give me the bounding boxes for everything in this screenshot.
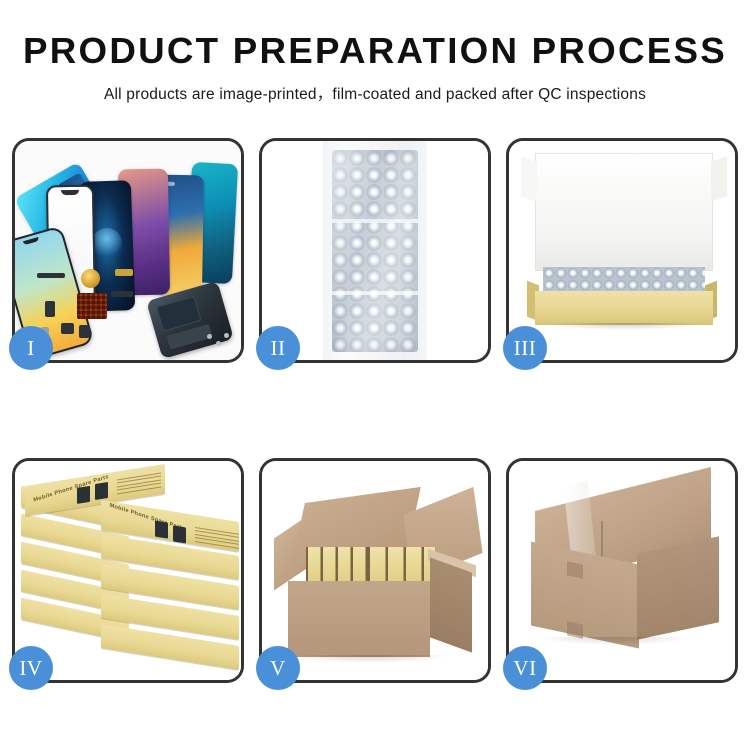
step-2-image <box>262 141 488 360</box>
box-spec-lines-front <box>195 527 239 551</box>
step-panel-6: VI <box>506 458 738 683</box>
step-panel-2: II <box>259 138 491 363</box>
step-panel-1: I <box>12 138 244 363</box>
page-header: PRODUCT PREPARATION PROCESS All products… <box>0 0 750 104</box>
box-lid-white <box>535 153 713 271</box>
step-panel-3: III <box>506 138 738 363</box>
mainboard-icon <box>156 296 202 332</box>
box-screen-image-front-1 <box>155 521 168 539</box>
flex-cable-part-icon <box>37 273 65 278</box>
bubble-wrapped-contents <box>543 267 705 293</box>
step-badge-1: I <box>9 326 53 370</box>
process-steps-grid: I II III <box>12 138 738 683</box>
jellyfish-wallpaper <box>91 228 122 259</box>
button-flex-part-icon <box>115 269 133 276</box>
sealed-carton-shadow <box>539 637 689 645</box>
step-6-image <box>509 461 735 680</box>
box-shadow <box>543 323 705 330</box>
page-title: PRODUCT PREPARATION PROCESS <box>0 32 750 70</box>
step-badge-3: III <box>503 326 547 370</box>
bubble-wrap-seam-top <box>332 219 418 223</box>
step-5-image <box>262 461 488 680</box>
copper-mesh-part-icon <box>77 293 107 319</box>
box-screen-image-front-2 <box>173 525 186 543</box>
connector-part-icon <box>45 301 55 317</box>
page-subtitle: All products are image-printed，film-coat… <box>0 82 750 104</box>
antenna-flex-part-icon <box>111 291 133 297</box>
sealed-carton-side-face <box>637 536 719 639</box>
step-panel-5: V <box>259 458 491 683</box>
step-1-image <box>15 141 241 360</box>
box-spec-lines-back <box>117 473 161 497</box>
box-screen-image-back-1 <box>77 486 90 504</box>
screws-group-icon <box>207 332 233 352</box>
box-stack: Mobile Phone Spare Parts Mobile Phone Sp… <box>19 471 241 676</box>
box-screen-image-back-2 <box>95 482 108 500</box>
camera-module-part-icon <box>61 323 74 334</box>
speaker-coil-part-icon <box>81 269 100 288</box>
vibrator-part-icon <box>79 325 90 338</box>
product-preparation-process-page: PRODUCT PREPARATION PROCESS All products… <box>0 0 750 750</box>
step-badge-5: V <box>256 646 300 690</box>
bubble-wrap-bubbles <box>332 150 418 352</box>
step-4-image: Mobile Phone Spare Parts Mobile Phone Sp… <box>15 461 241 680</box>
carton-shadow <box>296 655 446 663</box>
step-3-image <box>509 141 735 360</box>
bubble-wrap-seam-bottom <box>332 291 418 295</box>
step-panel-4: Mobile Phone Spare Parts Mobile Phone Sp… <box>12 458 244 683</box>
carton-side-face <box>430 557 472 652</box>
carton-front-face <box>288 581 430 657</box>
step-badge-6: VI <box>503 646 547 690</box>
step-badge-2: II <box>256 326 300 370</box>
step-badge-4: IV <box>9 646 53 690</box>
box-front-kraft <box>535 291 713 325</box>
